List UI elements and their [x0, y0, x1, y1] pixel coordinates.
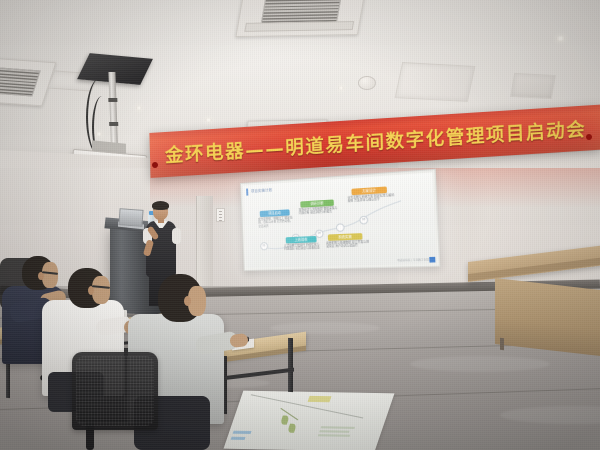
side-desk-front	[495, 278, 600, 357]
slide-node-body: 成立项目组、明确分工 确定范围、目标与计划 召开启动会，全员对齐	[258, 216, 294, 228]
mesh-chair-back	[72, 352, 158, 430]
attendee-face	[92, 276, 110, 304]
ac-cassette-unit	[235, 0, 366, 37]
slide-node-body: 系统配置与基础数据 接口开发与测试验证 用户培训与试运行	[326, 240, 369, 249]
ceiling-vent	[510, 73, 556, 99]
attendee-ear	[184, 296, 191, 306]
downlight	[556, 36, 565, 41]
slide-node-body: 正式切换上线运行 持续优化与问题跟踪 项目总结与验收结项	[284, 243, 321, 251]
conference-room-photo: 项目实施计划 项目启动 成立项目组、明确分工 确定范围、目标与计划 召开启动会，…	[0, 0, 600, 450]
wall-notice	[216, 208, 225, 222]
ac-grille-icon	[0, 67, 41, 97]
ceiling-vent	[395, 62, 476, 102]
attendee-ear	[38, 272, 44, 280]
presenter-sleeve	[172, 228, 181, 244]
slide-content: 项目实施计划 项目启动 成立项目组、明确分工 确定范围、目标与计划 召开启动会，…	[243, 172, 437, 268]
table-leg	[288, 338, 293, 392]
attendee-face	[42, 262, 58, 288]
laptop-screen	[118, 208, 143, 227]
projection-screen: 项目实施计划 项目启动 成立项目组、明确分工 确定范围、目标与计划 召开启动会，…	[240, 169, 440, 271]
smoke-detector-icon	[358, 76, 376, 90]
attendee-ear	[88, 286, 94, 295]
floor-paper	[224, 391, 395, 450]
side-desk-leg	[500, 338, 504, 350]
slide-node-label: 系统实施	[328, 233, 363, 241]
downlight	[205, 118, 212, 122]
slide-node-label: 上线验收	[286, 236, 317, 243]
floor-vein	[410, 356, 550, 372]
slide-footer: 明道易科技 | 车间数字化管理	[397, 257, 432, 262]
presenter-hair	[152, 201, 169, 210]
banner-pin	[586, 134, 592, 140]
downlight	[136, 106, 142, 110]
downlight	[338, 86, 344, 90]
floor-vein	[500, 406, 600, 424]
slide-corner-tag	[429, 257, 435, 263]
ac-slat	[244, 21, 354, 33]
chair-mesh	[76, 356, 154, 426]
banner-pin	[152, 162, 158, 168]
door-edge	[196, 196, 213, 296]
floor-vein	[270, 322, 380, 334]
